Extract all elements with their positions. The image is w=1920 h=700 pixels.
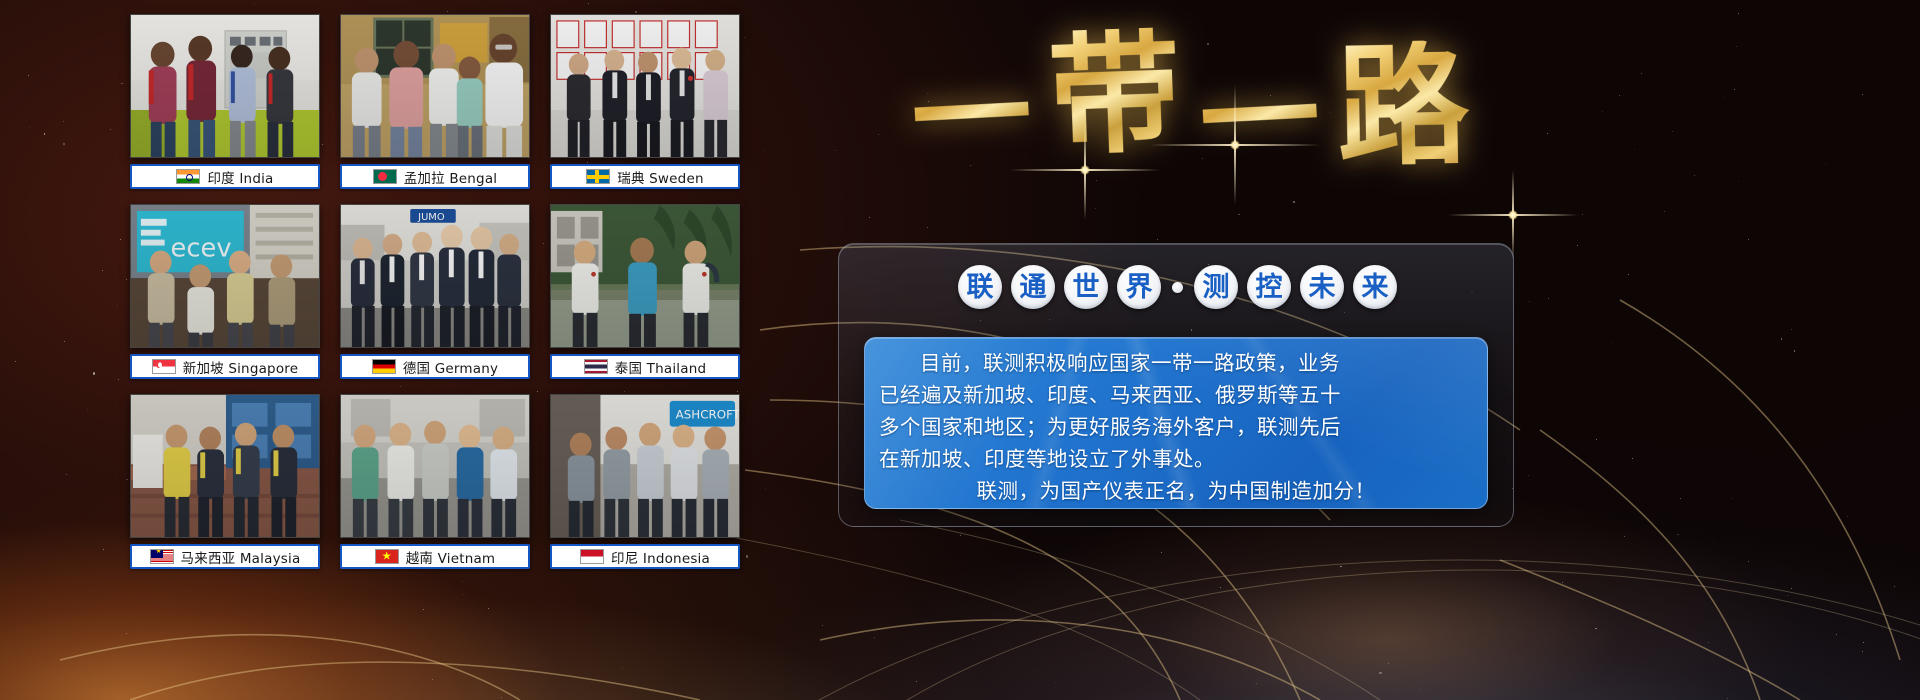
caption-label-india: 印度 India <box>207 167 273 187</box>
flag-indonesia-icon <box>580 549 604 564</box>
photo-card-thailand[interactable]: 泰国 Thailand <box>550 204 740 382</box>
headline-calligraphy: 一 带 一 路 <box>830 8 1550 198</box>
flag-thailand-icon <box>584 359 608 374</box>
caption-bengal: 孟加拉 Bengal <box>340 164 530 189</box>
info-line-1: 目前，联测积极响应国家一带一路政策，业务 <box>879 347 1473 379</box>
headline-char-1: 一 <box>909 54 1035 180</box>
photo-india <box>130 14 320 158</box>
sparkle-star-2 <box>1010 95 1160 245</box>
info-line-4: 在新加坡、印度等地设立了外事处。 <box>879 443 1473 475</box>
country-photo-grid: 印度 India <box>130 14 770 586</box>
flag-vietnam-icon <box>375 549 399 564</box>
caption-label-malaysia: 马来西亚 Malaysia <box>181 547 301 567</box>
photo-malaysia <box>130 394 320 538</box>
caption-germany: 德国 Germany <box>340 354 530 379</box>
info-text-box: 目前，联测积极响应国家一带一路政策，业务 已经遍及新加坡、印度、马来西亚、俄罗斯… <box>864 337 1488 509</box>
slogan-char-5: 测 <box>1194 265 1238 309</box>
photo-sweden <box>550 14 740 158</box>
caption-label-sweden: 瑞典 Sweden <box>617 167 703 187</box>
photo-bengal <box>340 14 530 158</box>
info-line-2: 已经遍及新加坡、印度、马来西亚、俄罗斯等五十 <box>879 379 1473 411</box>
caption-singapore: 新加坡 Singapore <box>130 354 320 379</box>
photo-card-vietnam[interactable]: 越南 Vietnam <box>340 394 530 572</box>
caption-india: 印度 India <box>130 164 320 189</box>
caption-malaysia: 马来西亚 Malaysia <box>130 544 320 569</box>
flag-singapore-icon <box>152 359 176 374</box>
headline-char-2: 带 <box>1046 27 1183 164</box>
photo-card-india[interactable]: 印度 India <box>130 14 320 192</box>
caption-sweden: 瑞典 Sweden <box>550 164 740 189</box>
slogan-char-3: 世 <box>1064 265 1108 309</box>
headline-char-3: 一 <box>1197 56 1323 182</box>
caption-indonesia: 印尼 Indonesia <box>550 544 740 569</box>
caption-thailand: 泰国 Thailand <box>550 354 740 379</box>
photo-germany: JUMO <box>340 204 530 348</box>
slogan-char-8: 来 <box>1353 265 1397 309</box>
slogan-char-2: 通 <box>1011 265 1055 309</box>
slogan-char-1: 联 <box>958 265 1002 309</box>
slogan-char-7: 未 <box>1300 265 1344 309</box>
slogan-separator-dot <box>1172 282 1183 293</box>
photo-card-indonesia[interactable]: ASHCROFT 印尼 Indonesia <box>550 394 740 572</box>
info-line-3: 多个国家和地区；为更好服务海外客户，联测先后 <box>879 411 1473 443</box>
photo-vietnam <box>340 394 530 538</box>
photo-card-sweden[interactable]: 瑞典 Sweden <box>550 14 740 192</box>
caption-label-germany: 德国 Germany <box>403 357 498 377</box>
slogan-badge-row: 联 通 世 界 测 控 未 来 <box>958 265 1397 309</box>
photo-indonesia: ASHCROFT <box>550 394 740 538</box>
caption-label-singapore: 新加坡 Singapore <box>183 357 299 377</box>
caption-label-vietnam: 越南 Vietnam <box>406 547 496 567</box>
photo-card-singapore[interactable]: ecev 新加坡 Singapore <box>130 204 320 382</box>
slogan-char-4: 界 <box>1117 265 1161 309</box>
flag-malaysia-icon <box>150 549 174 564</box>
slogan-char-6: 控 <box>1247 265 1291 309</box>
photo-singapore: ecev <box>130 204 320 348</box>
caption-label-indonesia: 印尼 Indonesia <box>611 547 710 567</box>
flag-germany-icon <box>372 359 396 374</box>
sparkle-star-1 <box>1150 60 1320 230</box>
caption-vietnam: 越南 Vietnam <box>340 544 530 569</box>
caption-label-bengal: 孟加拉 Bengal <box>404 167 498 187</box>
photo-card-germany[interactable]: JUMO 德国 Germany <box>340 204 530 382</box>
photo-card-bengal[interactable]: 孟加拉 Bengal <box>340 14 530 192</box>
flag-bangladesh-icon <box>373 169 397 184</box>
belt-and-road-banner: 印度 India <box>0 0 1920 700</box>
headline-char-4: 路 <box>1336 40 1470 174</box>
flag-sweden-icon <box>586 169 610 184</box>
photo-thailand <box>550 204 740 348</box>
photo-card-malaysia[interactable]: 马来西亚 Malaysia <box>130 394 320 572</box>
info-line-5: 联测，为国产仪表正名，为中国制造加分！ <box>879 475 1473 507</box>
caption-label-thailand: 泰国 Thailand <box>615 357 706 377</box>
flag-india-icon <box>176 169 200 184</box>
